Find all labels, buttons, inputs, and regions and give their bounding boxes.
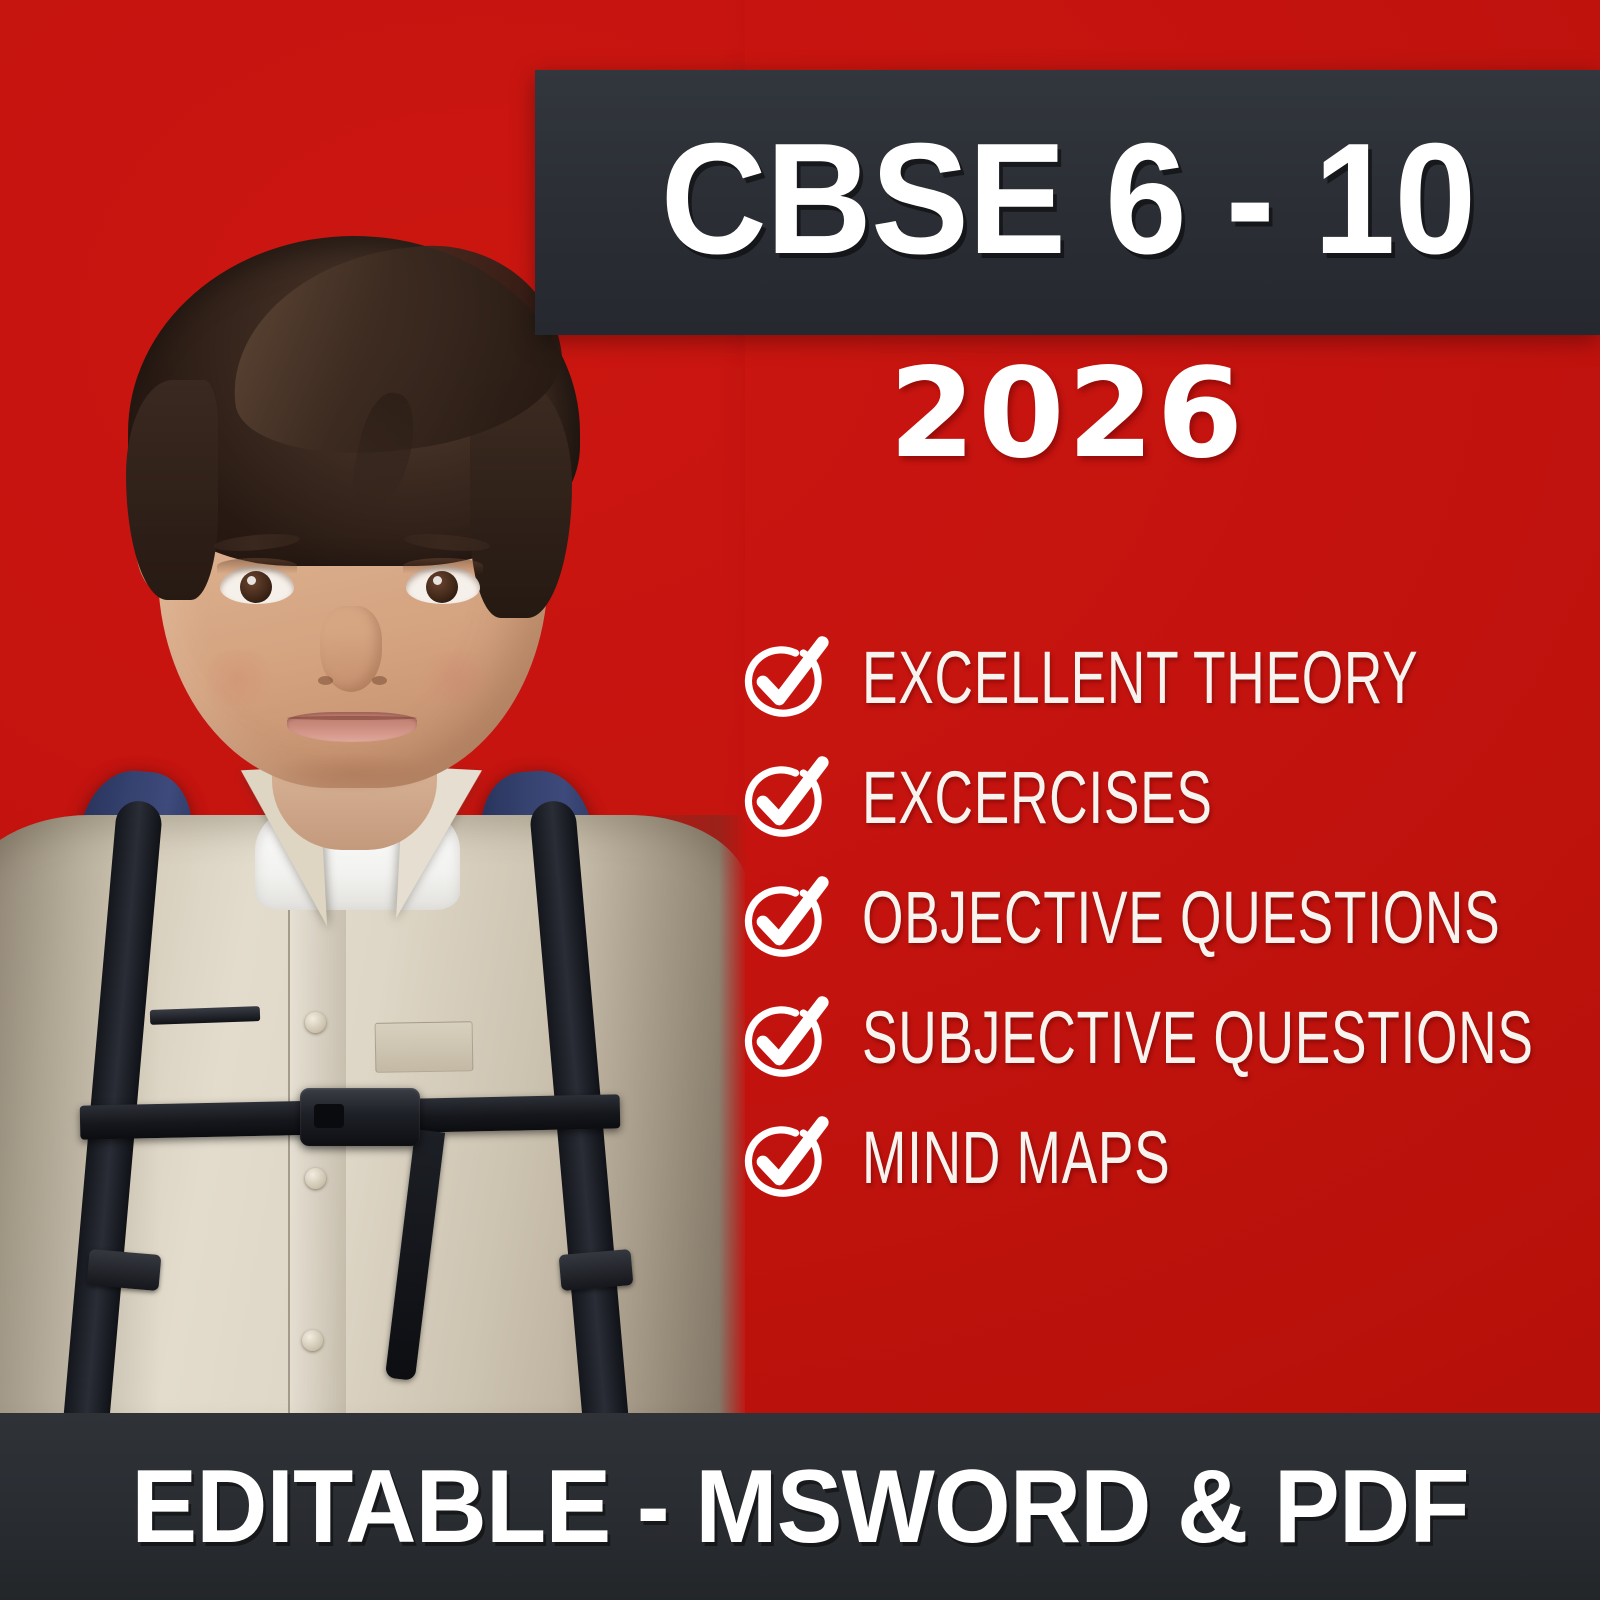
shirt-button: [302, 1330, 323, 1351]
circle-check-icon: [736, 630, 832, 726]
feature-label: OBJECTIVE QUESTIONS: [862, 881, 1500, 955]
year-label: 2026: [535, 352, 1600, 476]
promo-poster: CBSE 6 - 10 2026 EXCELLENT THEORY EXCERC…: [0, 0, 1600, 1600]
feature-label: SUBJECTIVE QUESTIONS: [862, 1001, 1534, 1075]
list-item: SUBJECTIVE QUESTIONS: [736, 978, 1596, 1098]
footer-banner: EDITABLE - MSWORD & PDF: [0, 1413, 1600, 1600]
nostril-right: [372, 676, 387, 685]
eyelid-left: [217, 558, 297, 574]
circle-check-icon: [736, 990, 832, 1086]
feature-list: EXCELLENT THEORY EXCERCISES OBJECTIVE QU…: [736, 618, 1596, 1218]
list-item: EXCELLENT THEORY: [736, 618, 1596, 738]
strap-clip-left: [87, 1249, 162, 1291]
shirt-button: [305, 1168, 326, 1189]
hair-side-left: [126, 380, 218, 600]
title-banner: CBSE 6 - 10: [535, 70, 1600, 335]
circle-check-icon: [736, 1110, 832, 1206]
feature-label: EXCERCISES: [862, 761, 1213, 835]
circle-check-icon: [736, 870, 832, 966]
footer-text: EDITABLE - MSWORD & PDF: [131, 1455, 1468, 1559]
page-title: CBSE 6 - 10: [660, 120, 1475, 286]
list-item: EXCERCISES: [736, 738, 1596, 858]
iris-right: [426, 571, 458, 603]
circle-check-icon: [736, 750, 832, 846]
feature-label: MIND MAPS: [862, 1121, 1170, 1195]
iris-left: [240, 571, 272, 603]
eyelid-right: [403, 558, 483, 574]
list-item: OBJECTIVE QUESTIONS: [736, 858, 1596, 978]
shirt-button: [305, 1012, 326, 1033]
shirt-pocket-flap: [375, 1021, 474, 1073]
chin-shadow: [268, 752, 438, 794]
nostril-left: [318, 676, 333, 685]
cheek-right: [414, 650, 498, 706]
list-item: MIND MAPS: [736, 1098, 1596, 1218]
chest-strap-buckle: [300, 1088, 420, 1146]
strap-clip-right: [559, 1249, 634, 1291]
feature-label: EXCELLENT THEORY: [862, 641, 1418, 715]
mouth-line: [287, 716, 417, 720]
cheek-left: [196, 650, 280, 706]
